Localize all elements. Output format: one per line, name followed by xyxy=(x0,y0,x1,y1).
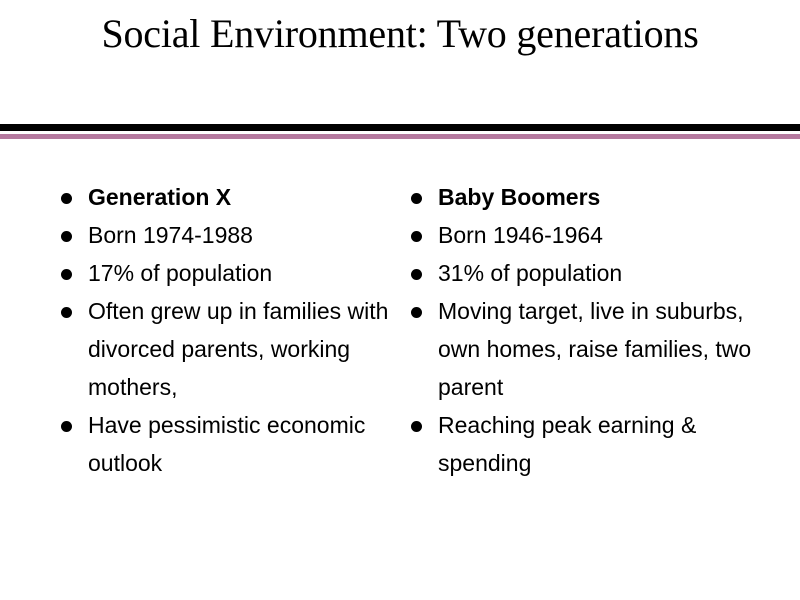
list-item: Reaching peak earning & spending xyxy=(408,406,792,482)
bullet-list-baby-boomers: Baby Boomers Born 1946-1964 31% of popul… xyxy=(408,178,792,482)
list-item: Have pessimistic economic outlook xyxy=(58,406,392,482)
bullet-dot-icon xyxy=(411,231,422,242)
bullet-list-generation-x: Generation X Born 1974-1988 17% of popul… xyxy=(58,178,392,482)
list-item: Born 1974-1988 xyxy=(58,216,392,254)
bullet-dot-icon xyxy=(411,269,422,280)
bullet-dot-icon xyxy=(61,307,72,318)
page-title: Social Environment: Two generations xyxy=(0,8,800,60)
bullet-dot-icon xyxy=(61,421,72,432)
bullet-dot-icon xyxy=(61,231,72,242)
title-area: Social Environment: Two generations xyxy=(0,8,800,60)
column-baby-boomers: Baby Boomers Born 1946-1964 31% of popul… xyxy=(400,178,800,482)
slide: Social Environment: Two generations Gene… xyxy=(0,0,800,600)
bullet-dot-icon xyxy=(411,421,422,432)
list-item: Born 1946-1964 xyxy=(408,216,792,254)
list-item: Moving target, live in suburbs, own home… xyxy=(408,292,792,406)
list-item-label: Born 1974-1988 xyxy=(88,216,392,254)
bullet-dot-icon xyxy=(61,269,72,280)
list-item-label: Generation X xyxy=(88,178,392,216)
list-item: Generation X xyxy=(58,178,392,216)
list-item: 17% of population xyxy=(58,254,392,292)
divider-primary xyxy=(0,124,800,131)
list-item-label: Moving target, live in suburbs, own home… xyxy=(438,292,792,406)
body-content: Generation X Born 1974-1988 17% of popul… xyxy=(0,178,800,578)
list-item: Baby Boomers xyxy=(408,178,792,216)
column-generation-x: Generation X Born 1974-1988 17% of popul… xyxy=(0,178,400,482)
list-item: Often grew up in families with divorced … xyxy=(58,292,392,406)
bullet-dot-icon xyxy=(411,307,422,318)
list-item-label: Born 1946-1964 xyxy=(438,216,792,254)
list-item-label: Reaching peak earning & spending xyxy=(438,406,792,482)
bullet-dot-icon xyxy=(61,193,72,204)
list-item-label: 31% of population xyxy=(438,254,792,292)
list-item-label: 17% of population xyxy=(88,254,392,292)
list-item-label: Often grew up in families with divorced … xyxy=(88,292,392,406)
list-item: 31% of population xyxy=(408,254,792,292)
divider-accent xyxy=(0,134,800,139)
list-item-label: Have pessimistic economic outlook xyxy=(88,406,392,482)
bullet-dot-icon xyxy=(411,193,422,204)
list-item-label: Baby Boomers xyxy=(438,178,792,216)
